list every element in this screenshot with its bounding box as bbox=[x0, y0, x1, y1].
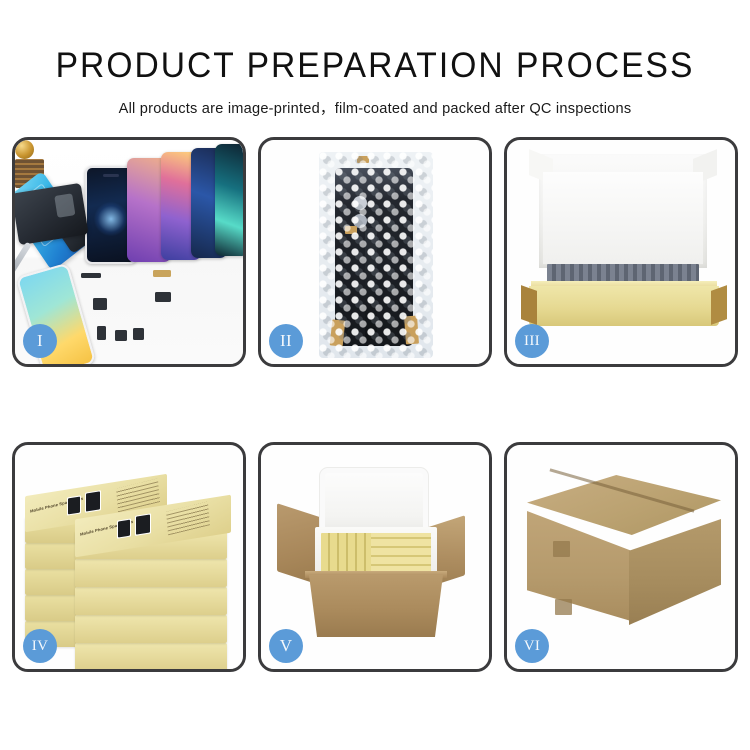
step-badge-4: IV bbox=[23, 629, 57, 663]
small-part-strip bbox=[81, 273, 101, 278]
process-step-card-2[interactable]: II bbox=[258, 137, 492, 367]
box-slab-front-3 bbox=[75, 587, 227, 615]
page-header: PRODUCT PREPARATION PROCESS All products… bbox=[0, 0, 750, 118]
box-front-panel bbox=[529, 286, 719, 326]
process-step-grid: I II bbox=[12, 137, 738, 737]
step-badge-1: I bbox=[23, 324, 57, 358]
small-part-speaker bbox=[115, 330, 127, 341]
box-window-back-1 bbox=[67, 495, 81, 515]
box-spec-lines-front bbox=[166, 502, 210, 536]
process-step-card-4[interactable]: Mobile Phone Spare Parts Mobile Phone Sp… bbox=[12, 442, 246, 672]
small-part-camera bbox=[133, 328, 144, 340]
step-badge-5: V bbox=[269, 629, 303, 663]
retail-boxes-row-2 bbox=[371, 533, 431, 573]
box-stack: Mobile Phone Spare Parts Mobile Phone Sp… bbox=[21, 455, 237, 663]
coil-part-icon bbox=[15, 140, 34, 159]
page-subtitle: All products are image-printed，film-coat… bbox=[0, 97, 750, 118]
bubble-wrap-bag bbox=[319, 152, 433, 358]
box-slab-front-2 bbox=[75, 559, 227, 587]
small-part-connector bbox=[155, 292, 171, 302]
small-part-flex bbox=[153, 270, 171, 277]
process-step-card-6[interactable]: VI bbox=[504, 442, 738, 672]
part-center-strip bbox=[365, 228, 377, 340]
box-window-front-2 bbox=[135, 513, 151, 536]
tape-piece-top bbox=[357, 156, 369, 163]
small-part-bracket bbox=[93, 298, 107, 310]
step-badge-6: VI bbox=[515, 629, 549, 663]
step-badge-2: II bbox=[269, 324, 303, 358]
step-badge-3: III bbox=[515, 324, 549, 358]
tape-piece-middle bbox=[345, 226, 357, 234]
box-window-back-2 bbox=[85, 490, 101, 513]
carton-front-panel bbox=[309, 575, 443, 637]
process-step-card-1[interactable]: I bbox=[12, 137, 246, 367]
carton-tape-lower bbox=[555, 599, 572, 615]
phone-teal bbox=[215, 144, 243, 256]
process-step-card-3[interactable]: III bbox=[504, 137, 738, 367]
phone-back-housing bbox=[15, 183, 89, 245]
box-foam-lining bbox=[543, 172, 703, 264]
box-slab-front-5 bbox=[75, 643, 227, 669]
box-slab-front-4 bbox=[75, 615, 227, 643]
tape-piece-bottom-right bbox=[404, 316, 419, 345]
tape-piece-bottom-left bbox=[330, 319, 346, 346]
small-part-sim-tray bbox=[97, 326, 106, 340]
page-title: PRODUCT PREPARATION PROCESS bbox=[15, 48, 735, 83]
carton-right-face bbox=[629, 519, 721, 625]
box-window-front-1 bbox=[117, 518, 131, 538]
wrapped-phone-part bbox=[335, 168, 413, 346]
product-preparation-process-page: PRODUCT PREPARATION PROCESS All products… bbox=[0, 0, 750, 750]
process-step-card-5[interactable]: V bbox=[258, 442, 492, 672]
carton-tape-upper bbox=[553, 541, 570, 557]
